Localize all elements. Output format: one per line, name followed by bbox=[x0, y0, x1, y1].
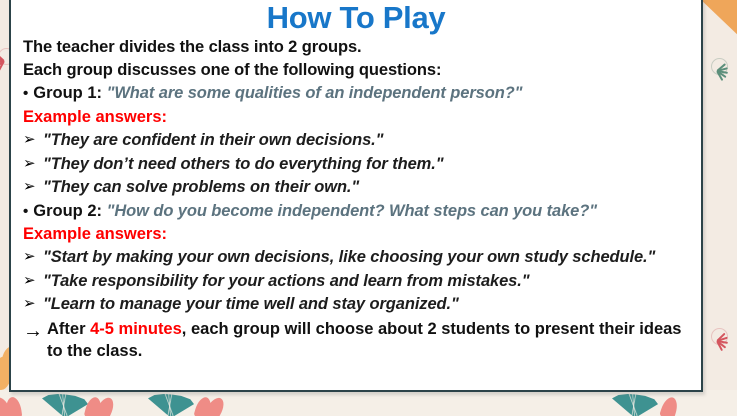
closing-instruction: → After 4-5 minutes, each group will cho… bbox=[23, 318, 691, 364]
group-2-question: "How do you become independent? What ste… bbox=[107, 202, 597, 220]
group-1-answer-text: "They don’t need others to do everything… bbox=[43, 153, 443, 176]
green-sprig-icon bbox=[707, 58, 729, 84]
arrow-bullet-icon: ➢ bbox=[23, 176, 43, 197]
arrow-bullet-icon: ➢ bbox=[23, 153, 43, 174]
group-2-answer-item: ➢ "Learn to manage your time well and st… bbox=[23, 293, 691, 316]
group-2-answer-item: ➢ "Start by making your own decisions, l… bbox=[23, 246, 691, 269]
orange-corner-wedge-icon bbox=[699, 0, 737, 38]
bottom-foliage-band bbox=[0, 390, 737, 416]
teal-leaf-fan-icon bbox=[42, 394, 88, 416]
closing-text: After 4-5 minutes, each group will choos… bbox=[47, 318, 691, 364]
pink-petal-icon bbox=[659, 395, 680, 416]
group-2-label: Group 2: bbox=[33, 202, 102, 220]
group-2-answer-item: ➢ "Take responsibility for your actions … bbox=[23, 270, 691, 293]
group-1-label: Group 1: bbox=[33, 84, 102, 102]
group-1-answer-item: ➢ "They can solve problems on their own.… bbox=[23, 176, 691, 199]
arrow-bullet-icon: ➢ bbox=[23, 129, 43, 150]
group-2-answer-text: "Learn to manage your time well and stay… bbox=[43, 293, 459, 316]
group-1-answers-label: Example answers: bbox=[23, 106, 691, 129]
arrow-bullet-icon: ➢ bbox=[23, 246, 43, 267]
group-1-question: "What are some qualities of an independe… bbox=[107, 84, 523, 102]
group-2-answers-label: Example answers: bbox=[23, 223, 691, 246]
teal-leaf-fan-icon bbox=[612, 394, 658, 416]
group-1-answer-item: ➢ "They are confident in their own decis… bbox=[23, 129, 691, 152]
group-1-answer-text: "They can solve problems on their own." bbox=[43, 176, 359, 199]
group-2-question-line: Group 2: "How do you become independent?… bbox=[23, 200, 691, 223]
pink-petal-icon bbox=[193, 395, 213, 416]
page-title: How To Play bbox=[11, 2, 701, 35]
pink-petal-icon bbox=[204, 395, 228, 416]
arrow-bullet-icon: ➢ bbox=[23, 270, 43, 291]
group-1-answer-item: ➢ "They don’t need others to do everythi… bbox=[23, 153, 691, 176]
group-1-answer-text: "They are confident in their own decisio… bbox=[43, 129, 383, 152]
intro-line-1: The teacher divides the class into 2 gro… bbox=[23, 36, 691, 59]
group-2-answer-text: "Start by making your own decisions, lik… bbox=[43, 246, 655, 269]
lesson-body: The teacher divides the class into 2 gro… bbox=[11, 36, 701, 364]
pink-petal-icon bbox=[0, 395, 13, 416]
arrow-bullet-icon: ➢ bbox=[23, 293, 43, 314]
pink-petal-icon bbox=[5, 396, 23, 416]
right-arrow-icon: → bbox=[23, 318, 47, 345]
pink-sprig-icon bbox=[707, 328, 729, 354]
group-2-answer-text: "Take responsibility for your actions an… bbox=[43, 270, 529, 293]
pink-petal-icon bbox=[84, 396, 104, 416]
pink-petal-icon bbox=[94, 395, 117, 416]
closing-highlight: 4-5 minutes bbox=[90, 320, 182, 338]
intro-line-2: Each group discusses one of the followin… bbox=[23, 59, 691, 82]
content-card: How To Play The teacher divides the clas… bbox=[9, 0, 703, 392]
closing-before: After bbox=[47, 320, 90, 338]
teal-leaf-fan-icon bbox=[148, 394, 194, 416]
slide-canvas: How To Play The teacher divides the clas… bbox=[0, 0, 737, 416]
group-1-question-line: Group 1: "What are some qualities of an … bbox=[23, 82, 691, 105]
